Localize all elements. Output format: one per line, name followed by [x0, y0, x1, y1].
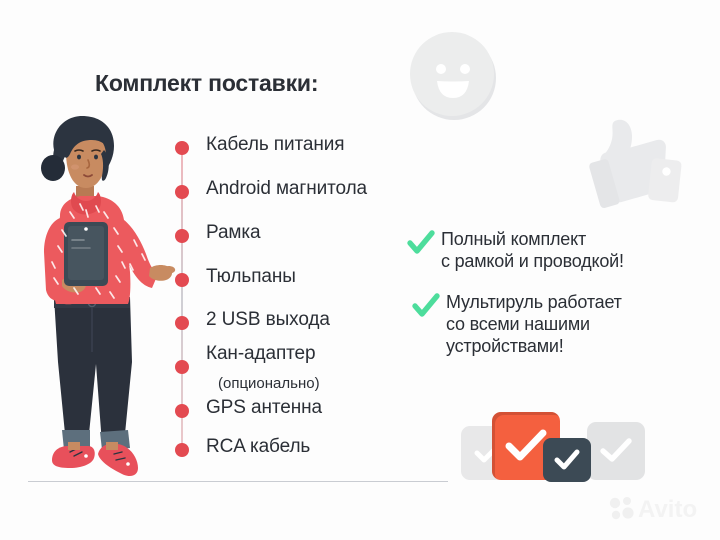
- avito-watermark: Avito: [606, 491, 706, 530]
- bullet-dot-icon: [175, 360, 189, 374]
- promo-image-canvas: Комплект поставки:: [0, 0, 720, 540]
- list-item-label: RCA кабель: [206, 436, 310, 458]
- ground-line: [28, 481, 448, 482]
- bullet-dot-icon: [175, 229, 189, 243]
- bullet-dot-icon: [175, 185, 189, 199]
- benefit-text: Мультируль работает со всеми нашими устр…: [446, 291, 622, 357]
- page-title: Комплект поставки:: [95, 70, 318, 97]
- check-icon: [412, 293, 440, 324]
- woman-pointing-illustration: [18, 112, 178, 492]
- list-item-label: 2 USB выхода: [206, 309, 330, 331]
- list-item-label: Тюльпаны: [206, 266, 296, 288]
- check-icon: [553, 449, 581, 471]
- bullet-dot-icon: [175, 443, 189, 457]
- check-icon: [599, 438, 633, 464]
- list-item-sublabel: (опционально): [218, 375, 320, 392]
- bullet-dot-icon: [175, 273, 189, 287]
- bullet-dot-icon: [175, 404, 189, 418]
- list-item-label: Рамка: [206, 222, 260, 244]
- list-item-label: Кабель питания: [206, 134, 344, 156]
- check-icon: [504, 429, 548, 463]
- benefit-item: Мультируль работает со всеми нашими устр…: [412, 291, 622, 357]
- list-item-label: Android магнитола: [206, 178, 367, 200]
- bullet-dot-icon: [175, 141, 189, 155]
- check-icon: [407, 230, 435, 261]
- smiley-face-icon: [404, 26, 504, 126]
- benefit-item: Полный комплект с рамкой и проводкой!: [407, 228, 624, 272]
- check-card-gray-right: [587, 422, 645, 480]
- package-contents-list: Кабель питания Android магнитола Рамка Т…: [170, 130, 430, 470]
- list-item-label: GPS антенна: [206, 397, 322, 419]
- benefit-text: Полный комплект с рамкой и проводкой!: [441, 228, 624, 272]
- thumbs-up-icon: [572, 112, 690, 216]
- bullet-dot-icon: [175, 316, 189, 330]
- list-item-label: Кан-адаптер: [206, 343, 316, 365]
- avito-wordmark: Avito: [638, 496, 697, 523]
- check-card-dark: [543, 438, 591, 482]
